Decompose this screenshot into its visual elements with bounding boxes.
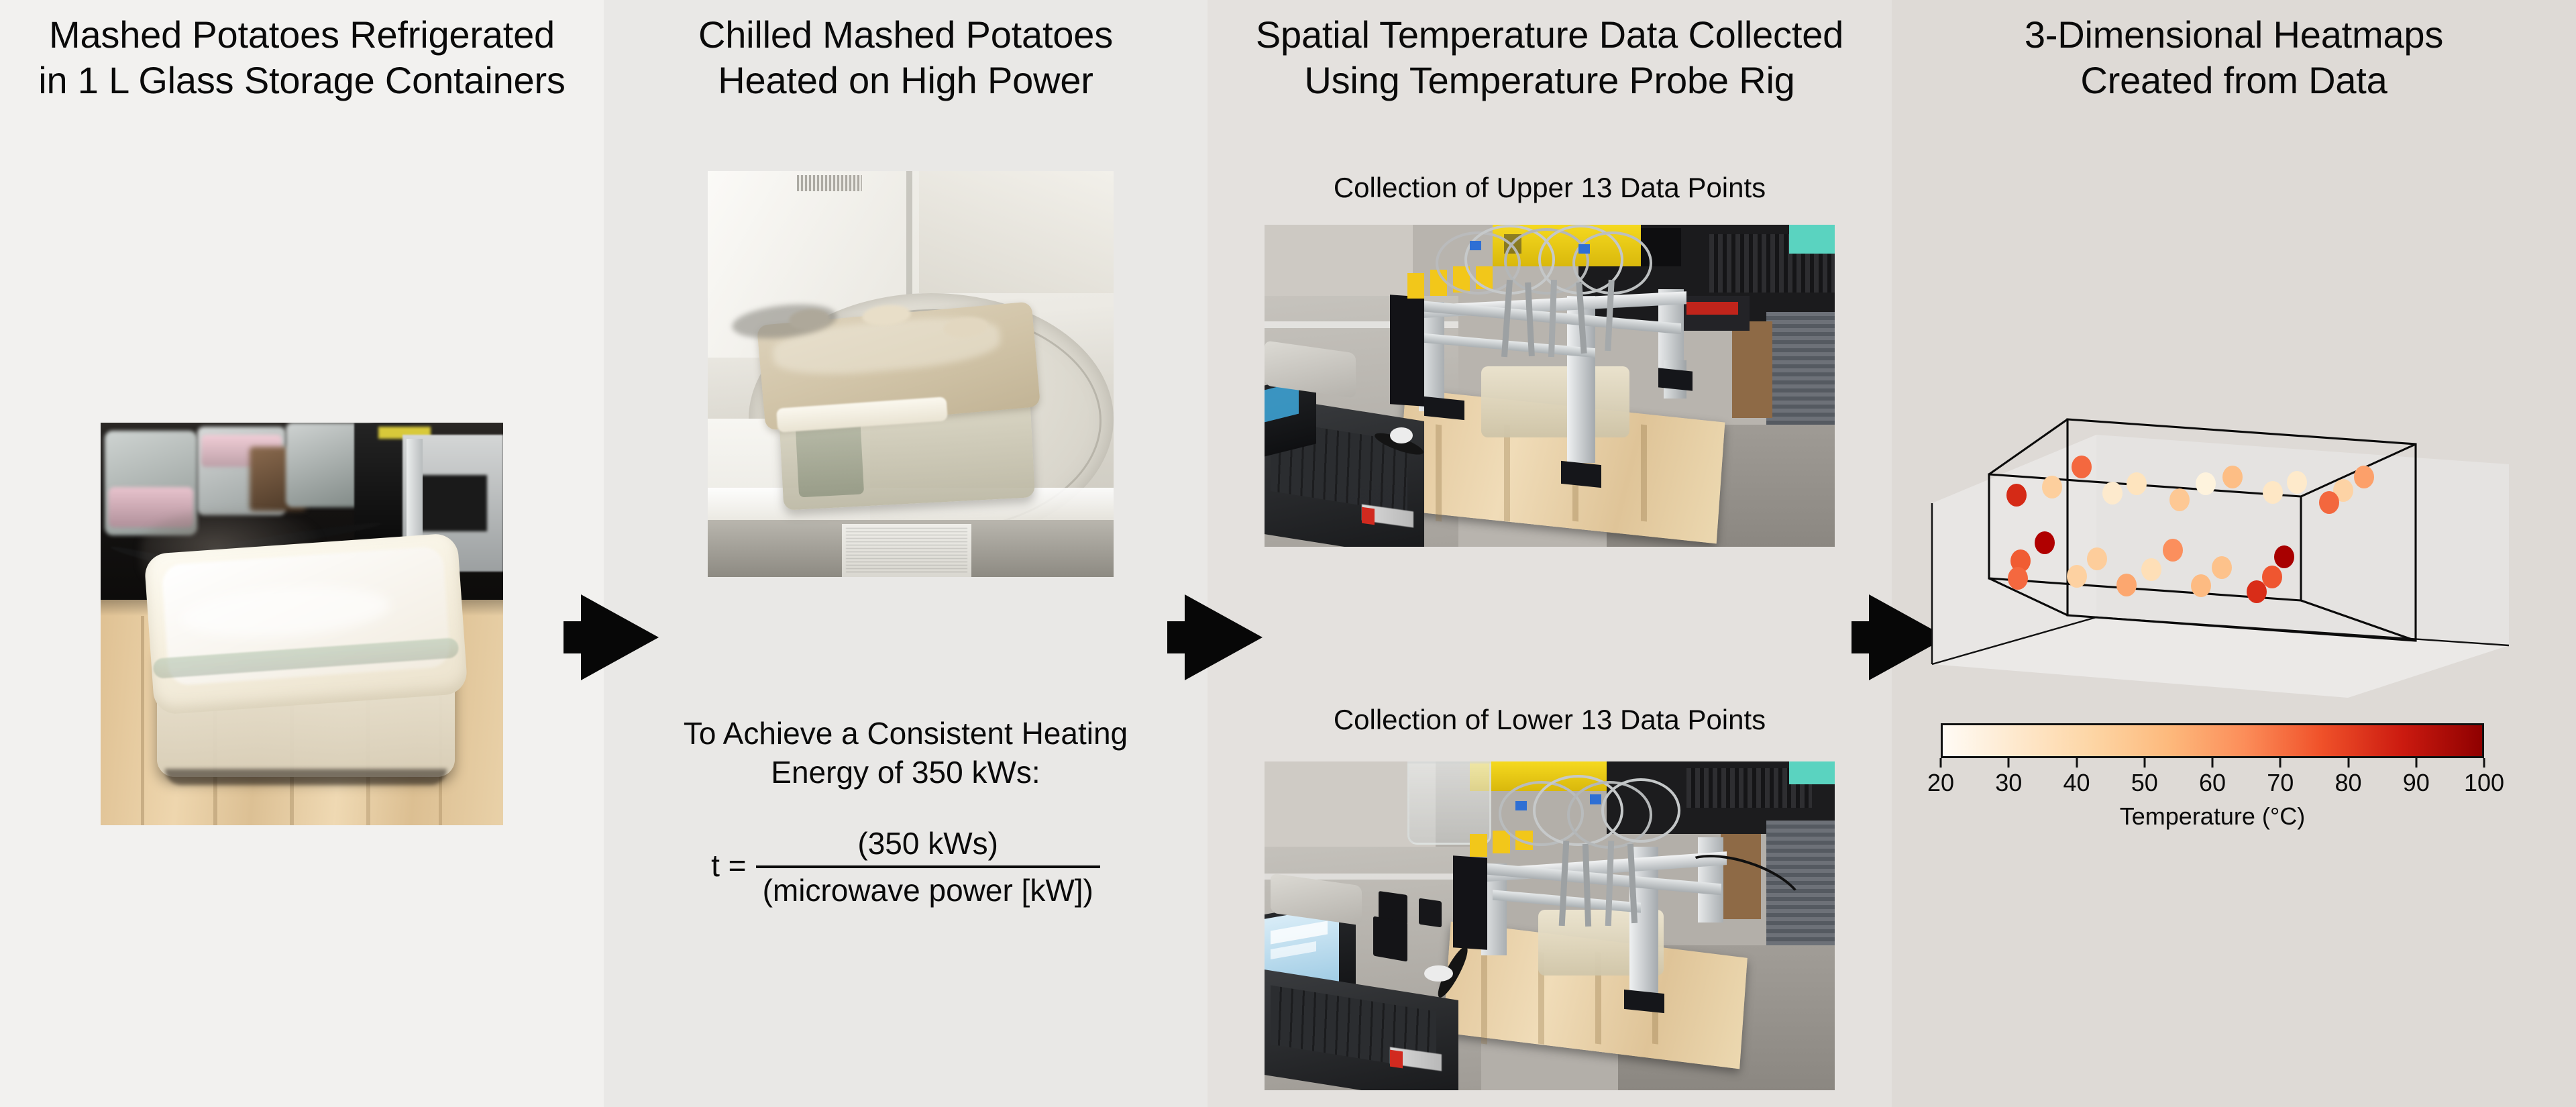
heatmap-point [2072, 456, 2092, 478]
right-block-arrow-icon [563, 590, 664, 684]
colorbar-tick-label: 60 [2199, 769, 2226, 797]
heatmap-point [2116, 574, 2137, 596]
heating-time-formula: t = (350 kWs) (microwave power [kW]) [604, 825, 1207, 908]
heatmap-point [2169, 488, 2190, 511]
label-lower-data-points: Collection of Lower 13 Data Points [1207, 703, 1892, 737]
colorbar-tick [2008, 758, 2010, 768]
label-upper-data-points: Collection of Upper 13 Data Points [1207, 171, 1892, 205]
colorbar-ticks [1941, 758, 2484, 769]
formula-fraction: (350 kWs) (microwave power [kW]) [756, 825, 1100, 908]
formula-lhs: t = [711, 847, 746, 886]
heatmap-point [2127, 472, 2147, 495]
process-figure: Mashed Potatoes Refrigerated in 1 L Glas… [0, 0, 2576, 1107]
colorbar-tick-labels: 2030405060708090100 [1941, 769, 2484, 801]
panel-4-title: 3-Dimensional Heatmaps Created from Data [1892, 12, 2576, 104]
arrow-step-1-to-2 [563, 590, 664, 684]
heatmap-point [2191, 574, 2211, 597]
colorbar-tick [2212, 758, 2214, 768]
colorbar-tick [2347, 758, 2349, 768]
colorbar-tick-label: 100 [2464, 769, 2504, 797]
colorbar-gradient [1941, 723, 2484, 758]
colorbar-tick-label: 30 [1995, 769, 2022, 797]
right-block-arrow-icon [1167, 590, 1268, 684]
formula-numerator: (350 kWs) [845, 825, 1010, 865]
heatmap-point [2141, 558, 2161, 581]
heatmap-point [2006, 484, 2027, 507]
heatmap-point [2354, 466, 2374, 488]
heatmap-point [2008, 567, 2028, 590]
colorbar-tick [2415, 758, 2417, 768]
panel-3-title: Spatial Temperature Data Collected Using… [1207, 12, 1892, 104]
heatmap-back-pane [2096, 435, 2509, 645]
formula-denominator: (microwave power [kW]) [756, 868, 1100, 908]
colorbar-tick [2279, 758, 2282, 768]
colorbar-tick [1940, 758, 1942, 768]
panel-2-title: Chilled Mashed Potatoes Heated on High P… [604, 12, 1207, 104]
heatmap-point [2042, 476, 2062, 498]
formula-intro-text: To Achieve a Consistent Heating Energy o… [604, 715, 1207, 792]
colorbar-tick [2483, 758, 2485, 768]
photo-probe-rig-upper [1265, 225, 1835, 547]
heatmap-point [2196, 472, 2216, 495]
arrow-step-2-to-3 [1167, 590, 1268, 684]
colorbar-tick [2076, 758, 2078, 768]
photo-probe-rig-lower [1265, 761, 1835, 1090]
colorbar-tick [2143, 758, 2145, 768]
heatmap-point [2212, 556, 2232, 579]
heatmap-point [2035, 531, 2055, 554]
heatmap-point [2163, 539, 2183, 562]
heatmap-point [2274, 545, 2294, 568]
photo-mashed-potatoes-container [101, 423, 503, 825]
photo-microwave-interior [708, 171, 1114, 577]
heatmap-point [2102, 482, 2123, 505]
colorbar-tick-label: 20 [1927, 769, 1954, 797]
colorbar-tick-label: 80 [2334, 769, 2361, 797]
colorbar-tick-label: 40 [2063, 769, 2090, 797]
heatmap-point [2262, 566, 2282, 588]
panel-1-title: Mashed Potatoes Refrigerated in 1 L Glas… [0, 12, 604, 104]
heatmap-point [2067, 565, 2087, 588]
heatmap-point [2319, 491, 2339, 514]
colorbar-tick-label: 50 [2131, 769, 2158, 797]
temperature-colorbar: 2030405060708090100 Temperature (°C) [1941, 723, 2484, 831]
heatmap-point [2263, 481, 2283, 504]
colorbar-tick-label: 90 [2403, 769, 2430, 797]
heatmap-point [2087, 547, 2107, 570]
colorbar-axis-label: Temperature (°C) [1941, 802, 2484, 831]
heatmap-point [2247, 580, 2267, 603]
heatmap-point [2287, 471, 2307, 494]
heatmap-point [2222, 466, 2243, 488]
colorbar-tick-label: 70 [2267, 769, 2294, 797]
heatmap-3d-scatter [1919, 396, 2522, 698]
